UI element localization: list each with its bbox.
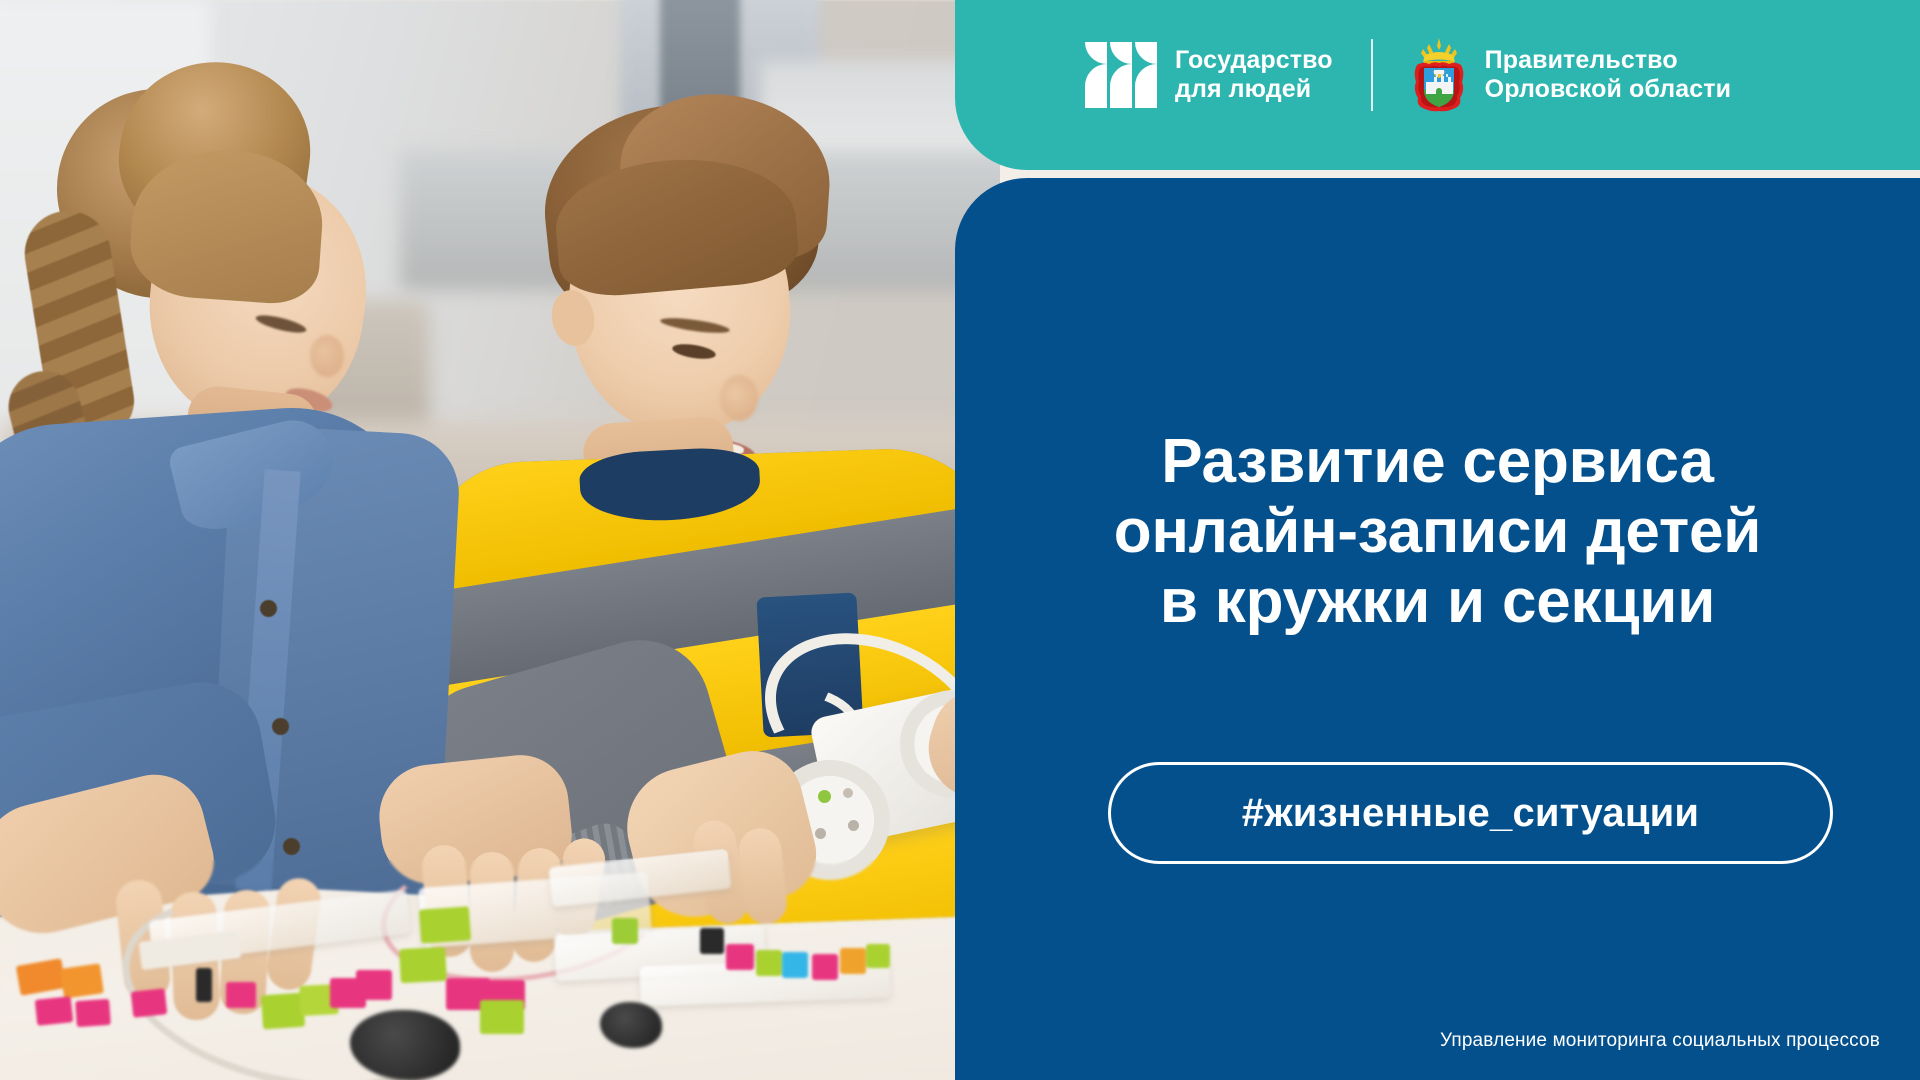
footer-credit: Управление мониторинга социальных процес…: [1440, 1030, 1880, 1052]
gosuslugi-brand: Государство для людей: [1085, 42, 1333, 108]
oryol-government-brand: Правительство Орловской области: [1411, 38, 1731, 112]
hashtag-label: #жизненные_ситуации: [1242, 791, 1699, 836]
gosuslugi-title: Государство для людей: [1175, 46, 1333, 105]
oryol-oblast-coat-of-arms-icon: [1411, 38, 1467, 112]
poster-banner: Государство для людей: [0, 0, 1920, 1080]
three-bars-logo-icon: [1085, 42, 1157, 108]
logo-row: Государство для людей: [1085, 38, 1731, 112]
page-title: Развитие сервиса онлайн-записи детей в к…: [955, 427, 1920, 637]
children-building-robot-photo: [0, 0, 1000, 1080]
vertical-divider-icon: [1371, 39, 1373, 111]
hashtag-button[interactable]: #жизненные_ситуации: [1108, 762, 1833, 864]
government-title: Правительство Орловской области: [1485, 46, 1731, 105]
